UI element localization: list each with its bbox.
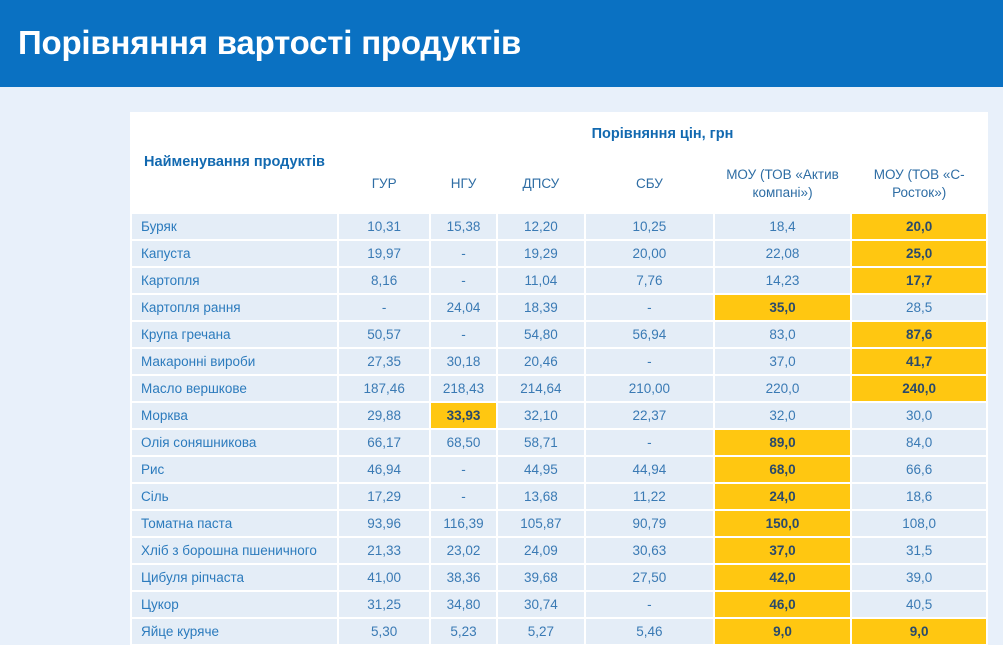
price-cell: 5,46	[586, 619, 713, 644]
product-name-cell: Цукор	[132, 592, 337, 617]
product-name-cell: Картопля	[132, 268, 337, 293]
price-cell: 30,74	[498, 592, 584, 617]
table-row: Хліб з борошна пшеничного21,3323,0224,09…	[132, 538, 986, 563]
price-cell: 5,23	[431, 619, 495, 644]
price-cell: 44,94	[586, 457, 713, 482]
price-cell: 24,04	[431, 295, 495, 320]
price-cell: 90,79	[586, 511, 713, 536]
price-cell: 56,94	[586, 322, 713, 347]
price-cell: -	[431, 484, 495, 509]
price-cell-highlighted: 87,6	[852, 322, 986, 347]
header-col-gur: ГУР	[339, 155, 429, 212]
table-row: Томатна паста93,96116,39105,8790,79150,0…	[132, 511, 986, 536]
product-name-cell: Хліб з борошна пшеничного	[132, 538, 337, 563]
table-row: Олія соняшникова66,1768,5058,71-89,084,0	[132, 430, 986, 455]
price-cell: 19,29	[498, 241, 584, 266]
price-cell: -	[431, 322, 495, 347]
price-cell: 39,68	[498, 565, 584, 590]
price-cell: 108,0	[852, 511, 986, 536]
price-cell: 220,0	[715, 376, 851, 401]
product-name-cell: Рис	[132, 457, 337, 482]
price-cell: -	[339, 295, 429, 320]
price-cell: 17,29	[339, 484, 429, 509]
table-header-row-group: Найменування продуктів Порівняння цін, г…	[132, 114, 986, 153]
price-cell: 10,31	[339, 214, 429, 239]
price-cell-highlighted: 25,0	[852, 241, 986, 266]
table-body: Буряк10,3115,3812,2010,2518,420,0Капуста…	[132, 214, 986, 644]
table-row: Цукор31,2534,8030,74-46,040,5	[132, 592, 986, 617]
price-cell: 28,5	[852, 295, 986, 320]
price-cell: 19,97	[339, 241, 429, 266]
price-cell: -	[586, 349, 713, 374]
price-cell: -	[431, 268, 495, 293]
price-cell-highlighted: 9,0	[852, 619, 986, 644]
price-cell: 218,43	[431, 376, 495, 401]
page-banner: Порівняння вартості продуктів	[0, 0, 1003, 87]
price-cell-highlighted: 9,0	[715, 619, 851, 644]
price-cell: 210,00	[586, 376, 713, 401]
price-cell: 10,25	[586, 214, 713, 239]
page-title: Порівняння вартості продуктів	[18, 26, 521, 61]
header-price-comparison: Порівняння цін, грн	[339, 114, 986, 153]
price-cell: 68,50	[431, 430, 495, 455]
price-cell: 32,10	[498, 403, 584, 428]
price-cell-highlighted: 37,0	[715, 538, 851, 563]
product-name-cell: Картопля рання	[132, 295, 337, 320]
table-row: Морква29,8833,9332,1022,3732,030,0	[132, 403, 986, 428]
price-cell: -	[431, 457, 495, 482]
price-cell: 27,50	[586, 565, 713, 590]
price-cell: 31,25	[339, 592, 429, 617]
table-row: Масло вершкове187,46218,43214,64210,0022…	[132, 376, 986, 401]
table-row: Картопля рання-24,0418,39-35,028,5	[132, 295, 986, 320]
price-cell: 22,08	[715, 241, 851, 266]
price-cell: 84,0	[852, 430, 986, 455]
table-row: Картопля8,16-11,047,7614,2317,7	[132, 268, 986, 293]
price-cell-highlighted: 17,7	[852, 268, 986, 293]
price-cell: 50,57	[339, 322, 429, 347]
header-col-sbu: СБУ	[586, 155, 713, 212]
price-cell: 39,0	[852, 565, 986, 590]
table-row: Цибуля ріпчаста41,0038,3639,6827,5042,03…	[132, 565, 986, 590]
price-cell: 14,23	[715, 268, 851, 293]
table-row: Сіль17,29-13,6811,2224,018,6	[132, 484, 986, 509]
product-name-cell: Яйце куряче	[132, 619, 337, 644]
price-cell: 12,20	[498, 214, 584, 239]
price-cell-highlighted: 24,0	[715, 484, 851, 509]
price-cell: 41,00	[339, 565, 429, 590]
price-cell: 20,00	[586, 241, 713, 266]
price-cell-highlighted: 46,0	[715, 592, 851, 617]
price-cell: 93,96	[339, 511, 429, 536]
price-cell: 18,4	[715, 214, 851, 239]
price-cell: 34,80	[431, 592, 495, 617]
price-cell: 38,36	[431, 565, 495, 590]
content-area: Найменування продуктів Порівняння цін, г…	[0, 87, 1003, 645]
price-cell: 11,22	[586, 484, 713, 509]
product-name-cell: Олія соняшникова	[132, 430, 337, 455]
price-cell-highlighted: 150,0	[715, 511, 851, 536]
product-name-cell: Масло вершкове	[132, 376, 337, 401]
product-name-cell: Буряк	[132, 214, 337, 239]
price-cell: 5,30	[339, 619, 429, 644]
price-cell: -	[586, 592, 713, 617]
price-cell: 30,63	[586, 538, 713, 563]
product-name-cell: Цибуля ріпчаста	[132, 565, 337, 590]
price-cell: 13,68	[498, 484, 584, 509]
product-name-cell: Капуста	[132, 241, 337, 266]
price-cell: 24,09	[498, 538, 584, 563]
table-row: Крупа гречана50,57-54,8056,9483,087,6	[132, 322, 986, 347]
price-cell: 30,0	[852, 403, 986, 428]
price-cell: 214,64	[498, 376, 584, 401]
price-cell: -	[586, 430, 713, 455]
price-cell: 83,0	[715, 322, 851, 347]
price-cell: 21,33	[339, 538, 429, 563]
price-table-container: Найменування продуктів Порівняння цін, г…	[130, 112, 988, 645]
price-cell: 22,37	[586, 403, 713, 428]
price-cell: 15,38	[431, 214, 495, 239]
price-cell-highlighted: 20,0	[852, 214, 986, 239]
table-row: Капуста19,97-19,2920,0022,0825,0	[132, 241, 986, 266]
price-cell: 37,0	[715, 349, 851, 374]
price-cell: 8,16	[339, 268, 429, 293]
price-cell: 27,35	[339, 349, 429, 374]
price-cell-highlighted: 41,7	[852, 349, 986, 374]
price-cell: 46,94	[339, 457, 429, 482]
table-row: Буряк10,3115,3812,2010,2518,420,0	[132, 214, 986, 239]
price-cell: 20,46	[498, 349, 584, 374]
product-name-cell: Морква	[132, 403, 337, 428]
product-name-cell: Томатна паста	[132, 511, 337, 536]
header-col-mou-aktyv-kompani: МОУ (ТОВ «Актив компані»)	[715, 155, 851, 212]
price-cell-highlighted: 68,0	[715, 457, 851, 482]
table-row: Рис46,94-44,9544,9468,066,6	[132, 457, 986, 482]
price-cell: 58,71	[498, 430, 584, 455]
price-cell: 187,46	[339, 376, 429, 401]
price-cell: 29,88	[339, 403, 429, 428]
price-cell: 66,17	[339, 430, 429, 455]
table-row: Яйце куряче5,305,235,275,469,09,0	[132, 619, 986, 644]
price-comparison-table: Найменування продуктів Порівняння цін, г…	[130, 112, 988, 645]
price-cell: -	[586, 295, 713, 320]
header-col-dpsu: ДПСУ	[498, 155, 584, 212]
price-cell: 30,18	[431, 349, 495, 374]
price-cell-highlighted: 33,93	[431, 403, 495, 428]
product-name-cell: Макаронні вироби	[132, 349, 337, 374]
price-cell-highlighted: 89,0	[715, 430, 851, 455]
price-cell: 32,0	[715, 403, 851, 428]
table-head: Найменування продуктів Порівняння цін, г…	[132, 114, 986, 212]
header-col-mou-s-rostok: МОУ (ТОВ «С-Росток»)	[852, 155, 986, 212]
price-cell: 31,5	[852, 538, 986, 563]
table-row: Макаронні вироби27,3530,1820,46-37,041,7	[132, 349, 986, 374]
price-cell-highlighted: 240,0	[852, 376, 986, 401]
price-cell: 7,76	[586, 268, 713, 293]
product-name-cell: Сіль	[132, 484, 337, 509]
price-cell: 18,6	[852, 484, 986, 509]
price-cell: 23,02	[431, 538, 495, 563]
price-cell: 11,04	[498, 268, 584, 293]
product-name-cell: Крупа гречана	[132, 322, 337, 347]
price-cell: 18,39	[498, 295, 584, 320]
price-cell: 66,6	[852, 457, 986, 482]
price-cell-highlighted: 42,0	[715, 565, 851, 590]
price-cell: 5,27	[498, 619, 584, 644]
price-cell: 54,80	[498, 322, 584, 347]
price-cell: 44,95	[498, 457, 584, 482]
price-cell: 40,5	[852, 592, 986, 617]
header-product-name: Найменування продуктів	[132, 114, 337, 212]
price-cell-highlighted: 35,0	[715, 295, 851, 320]
price-cell: 105,87	[498, 511, 584, 536]
header-col-ngu: НГУ	[431, 155, 495, 212]
price-cell: -	[431, 241, 495, 266]
price-cell: 116,39	[431, 511, 495, 536]
